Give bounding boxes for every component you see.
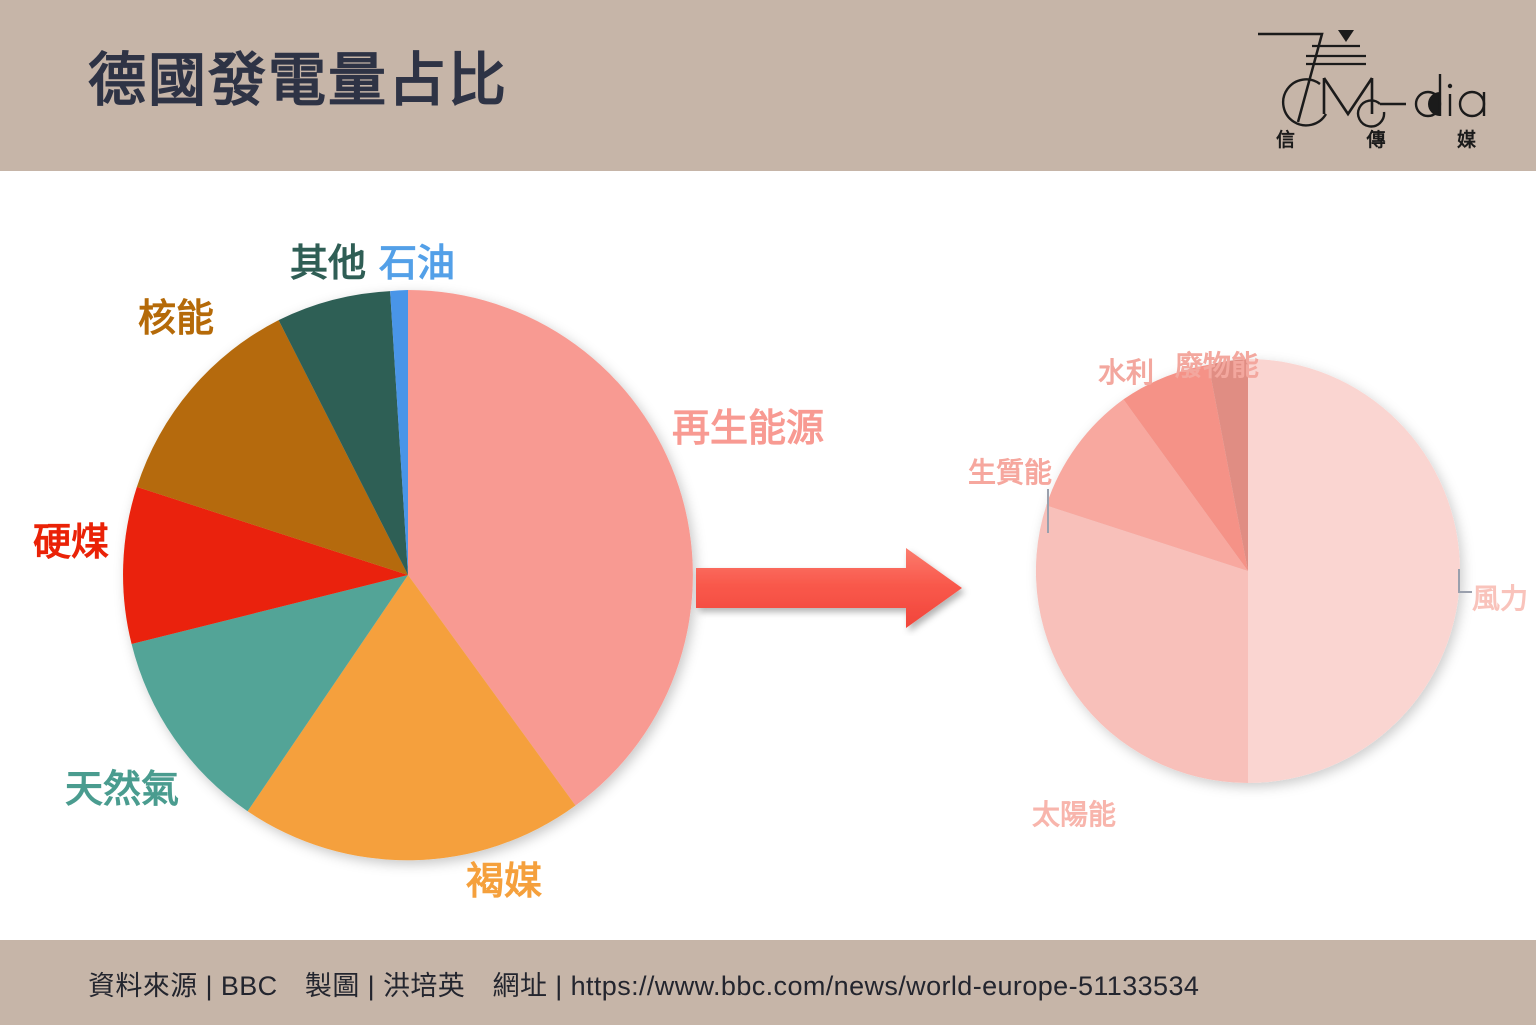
logo-cn-char-2: 傳 xyxy=(1366,125,1385,152)
page-title: 德國發電量占比 xyxy=(88,52,508,110)
leader-line-wind-horizontal xyxy=(1458,591,1472,593)
label-solar: 太陽能 xyxy=(1032,801,1116,829)
slide-root: 德國發電量占比 xyxy=(0,0,1536,1025)
label-lignite: 褐媒 xyxy=(466,863,542,901)
arrow-shape xyxy=(696,548,962,628)
pie-chart-renewable-breakdown xyxy=(1018,341,1488,811)
label-other: 其他 xyxy=(290,245,366,283)
label-renewable: 再生能源 xyxy=(672,410,824,448)
source-credit: 資料來源 | BBC 製圖 | 洪培英 網址 | https://www.bbc… xyxy=(88,964,1199,1003)
label-hydro: 水利 xyxy=(1098,359,1154,387)
logo-chinese-name: 信 傳 媒 xyxy=(1276,125,1476,152)
leader-line-biomass xyxy=(1047,489,1049,533)
label-waste-energy: 廢物能 xyxy=(1175,352,1259,380)
label-hard-coal: 硬煤 xyxy=(33,524,109,562)
label-natural-gas: 天然氣 xyxy=(65,771,179,809)
logo-mark xyxy=(1250,22,1500,132)
leader-line-wind-vertical xyxy=(1458,569,1460,593)
label-biomass: 生質能 xyxy=(968,459,1052,487)
chart-canvas: 其他 石油 核能 硬煤 天然氣 褐媒 再生能源 xyxy=(0,171,1536,940)
cmedia-logo: 信 傳 媒 xyxy=(1250,22,1500,154)
label-wind: 風力 xyxy=(1472,585,1528,613)
label-nuclear: 核能 xyxy=(138,300,214,338)
logo-cn-char-3: 媒 xyxy=(1457,125,1476,152)
slide-header: 德國發電量占比 xyxy=(0,0,1536,171)
transition-arrow xyxy=(690,546,980,641)
pie-slice-wind xyxy=(1248,359,1460,783)
label-oil: 石油 xyxy=(379,245,455,283)
slide-footer: 資料來源 | BBC 製圖 | 洪培英 網址 | https://www.bbc… xyxy=(0,940,1536,1025)
pie-chart-power-mix xyxy=(108,275,708,875)
logo-cn-char-1: 信 xyxy=(1276,125,1295,152)
